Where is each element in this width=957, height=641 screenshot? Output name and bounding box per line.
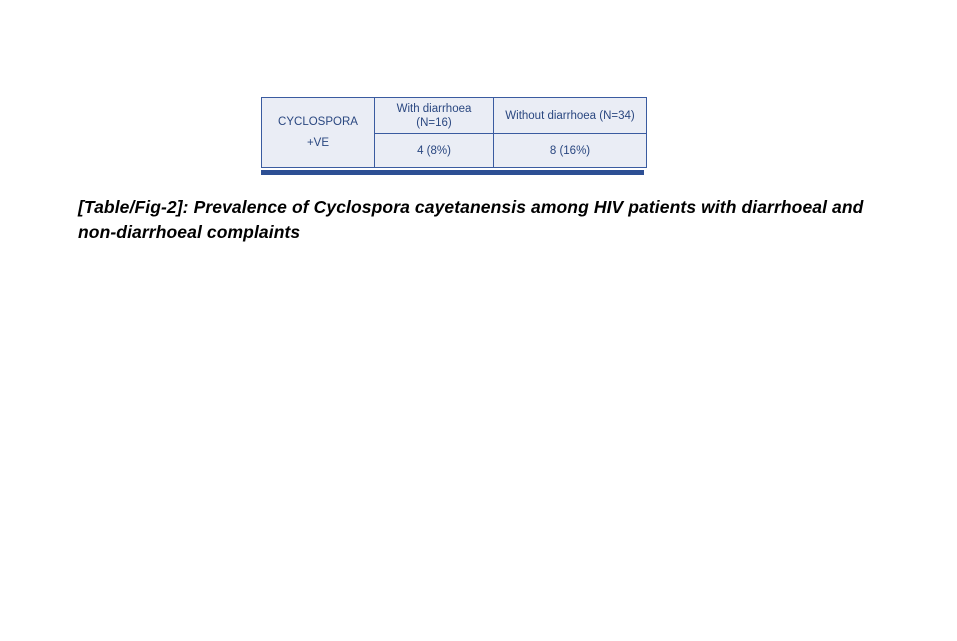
column-header-with-diarrhoea-line-1: With diarrhoea: [375, 102, 493, 116]
figure-block: CYCLOSPORA +VE With diarrhoea (N=16) Wit…: [0, 0, 957, 641]
cell-with-diarrhoea-value: 4 (8%): [375, 134, 494, 168]
column-header-without-diarrhoea: Without diarrhoea (N=34): [494, 98, 647, 134]
column-header-with-diarrhoea-line-2: (N=16): [375, 116, 493, 130]
prevalence-table-container: CYCLOSPORA +VE With diarrhoea (N=16) Wit…: [261, 97, 644, 168]
figure-caption: [Table/Fig-2]: Prevalence of Cyclospora …: [78, 195, 868, 245]
prevalence-table: CYCLOSPORA +VE With diarrhoea (N=16) Wit…: [261, 97, 647, 168]
row-label-line-1: CYCLOSPORA: [262, 115, 374, 129]
column-header-with-diarrhoea: With diarrhoea (N=16): [375, 98, 494, 134]
row-label-line-2: +VE: [262, 136, 374, 150]
column-header-without-diarrhoea-line-1: Without diarrhoea (N=34): [494, 109, 646, 123]
table-bottom-rule: [261, 170, 644, 175]
table-row-header: CYCLOSPORA +VE With diarrhoea (N=16) Wit…: [262, 98, 647, 134]
table-row-label-cyclospora: CYCLOSPORA +VE: [262, 98, 375, 168]
cell-without-diarrhoea-value: 8 (16%): [494, 134, 647, 168]
